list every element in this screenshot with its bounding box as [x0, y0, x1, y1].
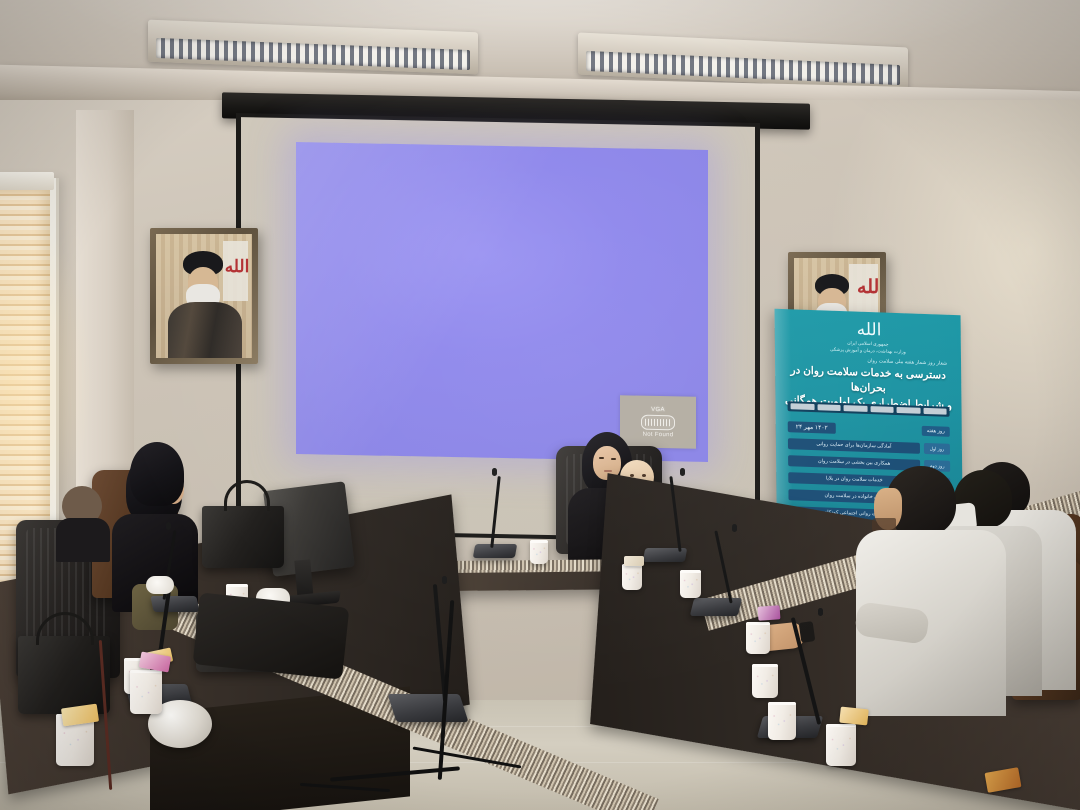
- date-chip: [844, 405, 868, 412]
- microphone-base[interactable]: [690, 598, 742, 616]
- microphone-base[interactable]: [387, 694, 468, 722]
- attendee-left-back: [130, 442, 200, 532]
- date-chip: [923, 408, 947, 415]
- snack-packet[interactable]: [624, 556, 644, 566]
- iran-flag-backdrop: الله: [223, 241, 248, 301]
- handbag-left[interactable]: [202, 506, 284, 568]
- banner-list-item: آمادگی سازمان‌ها برای حمایت روانی روز او…: [788, 437, 950, 456]
- cup-rim: [752, 664, 778, 667]
- snack-packet[interactable]: [839, 707, 869, 726]
- manikin-eye: [642, 474, 646, 477]
- microphone-capsule: [166, 522, 171, 530]
- blind-headrail: [0, 172, 54, 190]
- cup-rim: [530, 540, 548, 543]
- microphone-capsule: [492, 468, 497, 476]
- microphone-base[interactable]: [473, 544, 517, 558]
- attendee-left-far: [62, 486, 116, 558]
- presenter-eye: [599, 457, 604, 459]
- date-chip: [791, 403, 815, 410]
- microphone-capsule: [442, 576, 447, 584]
- banner-date-row: ۱۴۰۲ مهر ۲۴ روز هفته: [788, 419, 950, 439]
- paper-cup[interactable]: [680, 570, 701, 598]
- paper-cup[interactable]: [746, 622, 770, 654]
- snack-packet[interactable]: [758, 605, 781, 621]
- paper-cup[interactable]: [826, 724, 856, 766]
- microphone-base[interactable]: [150, 596, 199, 612]
- date-chip: [870, 406, 894, 413]
- paper-cup[interactable]: [768, 702, 796, 740]
- vga-source-label: VGA: [651, 406, 665, 412]
- paper-cup[interactable]: [530, 540, 548, 564]
- microphone-capsule: [680, 468, 685, 476]
- microphone-capsule: [818, 608, 823, 616]
- flag-emblem-icon: الله: [857, 278, 873, 300]
- banner-organization-lines: جمهوری اسلامی ایران وزارت بهداشت، درمان …: [775, 338, 961, 358]
- cup-rim: [768, 702, 796, 705]
- portrait-robe: [168, 302, 243, 358]
- photo-scene: VGA Not Found الله الله: [0, 0, 1080, 810]
- cup-rim: [826, 724, 856, 727]
- banner-list-item-text: آمادگی سازمان‌ها برای حمایت روانی: [788, 438, 920, 454]
- framed-portrait-left: الله: [150, 228, 258, 364]
- attendee-headscarf: [130, 442, 184, 506]
- attendee-torso: [56, 518, 110, 562]
- cup-rim: [680, 570, 701, 573]
- paper-cup[interactable]: [622, 564, 642, 590]
- napkin-cluster: [146, 576, 174, 594]
- microphone-capsule: [732, 524, 737, 532]
- paper-cup[interactable]: [752, 664, 778, 698]
- wristwatch: [799, 621, 816, 643]
- handbag-foreground[interactable]: [18, 636, 110, 714]
- cup-rim: [226, 584, 248, 587]
- banner-list-item-tag: روز اول: [924, 443, 950, 455]
- paper-cup[interactable]: [130, 670, 162, 714]
- banner-emblem-icon: الله: [857, 320, 879, 341]
- banner-date-value: ۱۴۰۲ مهر ۲۴: [788, 421, 836, 434]
- cup-rim: [746, 622, 770, 625]
- flag-emblem-icon: الله: [225, 258, 241, 280]
- attendee-right-front: [862, 466, 1012, 716]
- portrait-image: الله: [156, 234, 252, 358]
- banner-date-tag: روز هفته: [922, 426, 950, 437]
- date-chip: [897, 407, 921, 414]
- vga-port-icon: [641, 414, 675, 430]
- date-chip: [817, 404, 841, 411]
